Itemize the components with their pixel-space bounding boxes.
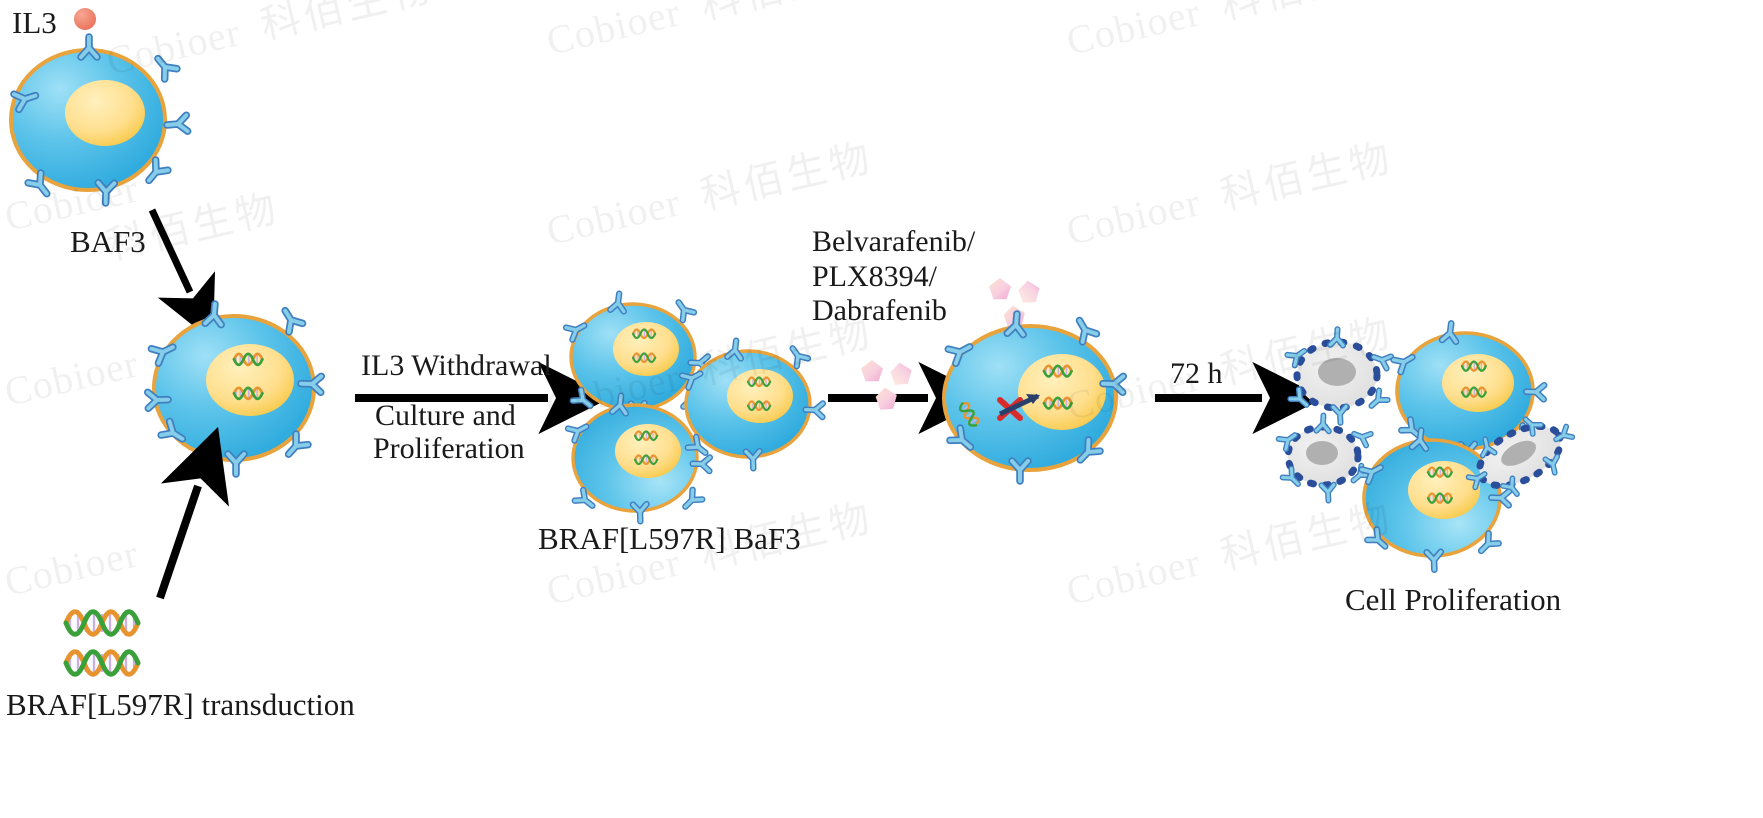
cell-transduced bbox=[148, 303, 322, 474]
dead-cell-1 bbox=[1287, 329, 1391, 423]
diagram-canvas: CobioerCobioerCobioerCobioer 科佰生物科佰生物Cob… bbox=[0, 0, 1763, 813]
arrow-baf3-to-transduced bbox=[152, 210, 190, 292]
label-drug-3: Dabrafenib bbox=[812, 292, 947, 330]
label-braf-baf3: BRAF[L597R] BaF3 bbox=[538, 519, 801, 559]
label-proliferation-sub: Proliferation bbox=[373, 430, 525, 468]
il3-ligand-dot bbox=[74, 8, 96, 30]
label-baf3: BAF3 bbox=[70, 222, 146, 262]
cell-drug-treated bbox=[944, 313, 1123, 481]
cell-cluster-proliferating bbox=[566, 293, 823, 522]
dead-cell-2 bbox=[1279, 415, 1371, 501]
label-il3-withdrawal: IL3 Withdrawal bbox=[361, 347, 552, 385]
label-il3: IL3 bbox=[12, 3, 57, 43]
transduction-dna bbox=[66, 610, 138, 676]
label-transduction: BRAF[L597R] transduction bbox=[6, 685, 355, 725]
drug-molecule-lower bbox=[861, 360, 912, 410]
label-72h: 72 h bbox=[1170, 355, 1223, 393]
label-cell-proliferation: Cell Proliferation bbox=[1345, 580, 1561, 620]
label-drug-2: PLX8394/ bbox=[812, 258, 937, 296]
arrow-dna-to-cell bbox=[160, 486, 198, 598]
label-drug-1: Belvarafenib/ bbox=[812, 223, 975, 261]
cell-baf3-parental bbox=[11, 37, 188, 203]
